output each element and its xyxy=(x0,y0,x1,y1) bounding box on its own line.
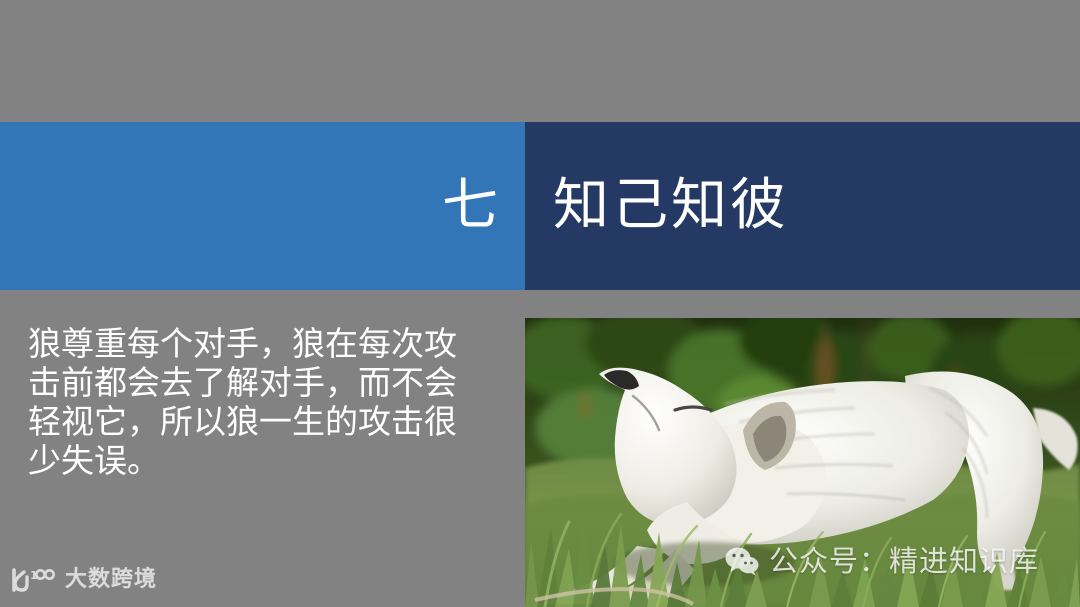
wolf-photo xyxy=(525,318,1080,607)
page-title: 知己知彼 xyxy=(525,122,1080,290)
section-number: 七 xyxy=(0,122,525,290)
k100-logo-icon: 1 xyxy=(10,566,56,594)
brand-name: 大数跨境 xyxy=(65,569,157,591)
brand-logo: 1 大数跨境 xyxy=(10,566,157,594)
slide-canvas: 七 知己知彼 狼尊重每个对手，狼在每次攻 击前都会去了解对手，而不会 轻视它，所… xyxy=(0,0,1080,607)
body-paragraph: 狼尊重每个对手，狼在每次攻 击前都会去了解对手，而不会 轻视它，所以狼一生的攻击… xyxy=(28,324,506,480)
wolf-photo-icon xyxy=(525,318,1080,607)
